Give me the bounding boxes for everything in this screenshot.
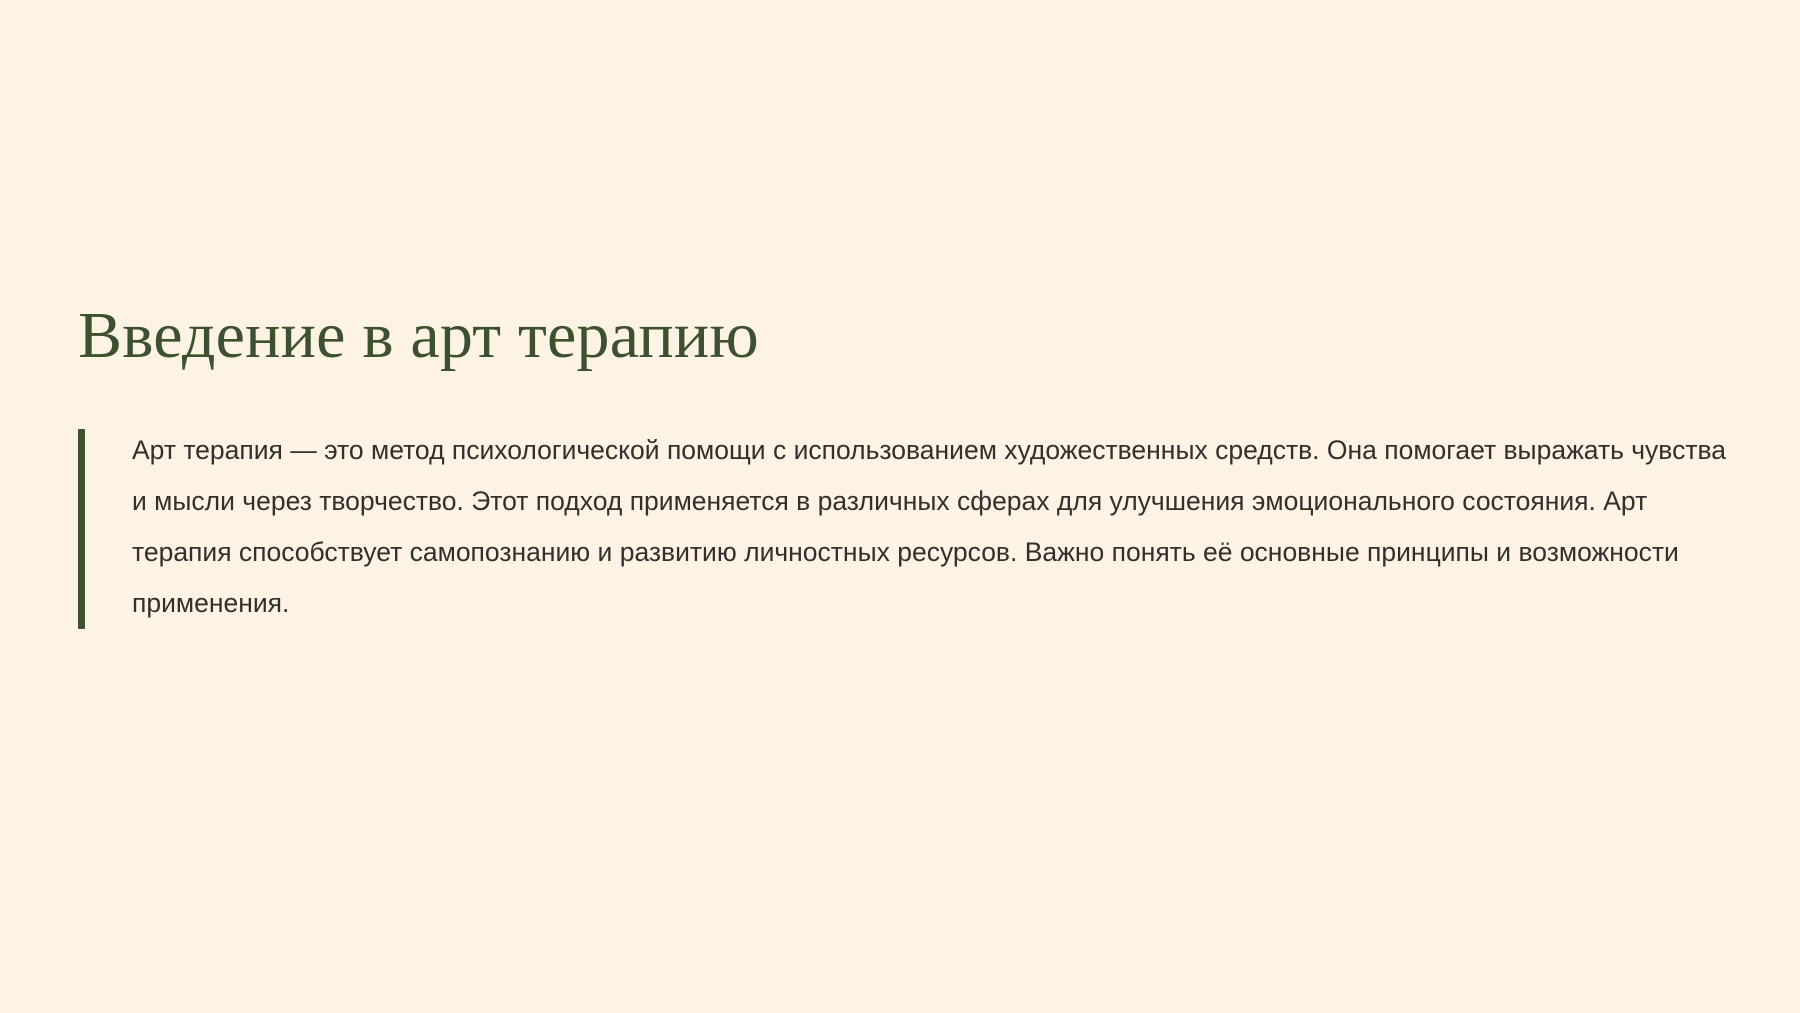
slide-content-block: Введение в арт терапию Арт терапия — это… bbox=[78, 300, 1728, 629]
accent-bar bbox=[78, 429, 85, 629]
slide-canvas: Введение в арт терапию Арт терапия — это… bbox=[0, 0, 1800, 1013]
body-text-block: Арт терапия — это метод психологической … bbox=[78, 425, 1728, 629]
page-title: Введение в арт терапию bbox=[78, 300, 1728, 371]
body-paragraph: Арт терапия — это метод психологической … bbox=[132, 425, 1728, 629]
